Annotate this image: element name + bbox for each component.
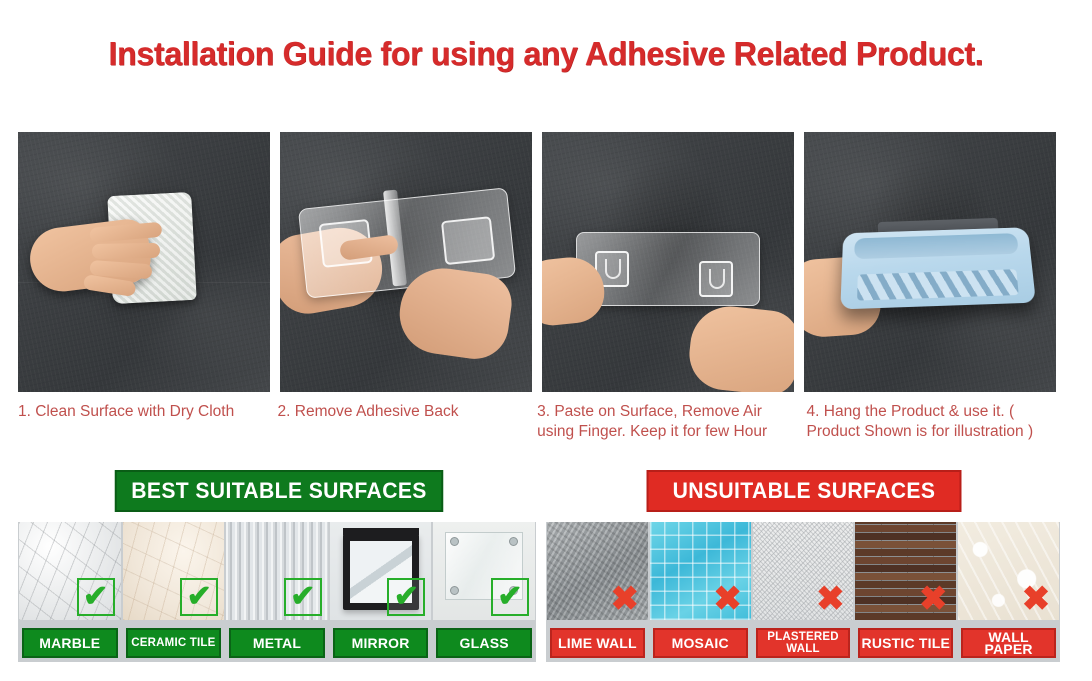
surface-label-lime-wall: LIME WALL [550,628,645,658]
surface-label-glass: GLASS [436,628,532,658]
shelf-interior [854,233,1019,259]
hook-pad [441,216,495,265]
step-photo-2-remove-adhesive-back [280,132,532,392]
surface-cell: ✖PLASTERED WALL [753,522,854,662]
surface-label-ceramic-tile: CERAMIC TILE [126,628,222,658]
step-caption-1: 1. Clean Surface with Dry Cloth [18,402,268,452]
blue-shelf-product [840,227,1036,309]
check-icon: ✔ [180,578,218,616]
page-title: Installation Guide for using any Adhesiv… [109,35,984,73]
surface-label-marble: MARBLE [22,628,118,658]
cross-icon: ✖ [1019,582,1053,616]
surface-swatch-rustic-tile: ✖ [855,522,956,620]
glass-bolt-icon [509,537,518,546]
check-icon: ✔ [387,578,425,616]
suitable-surfaces-grid: ✔MARBLE✔CERAMIC TILE✔METAL✔MIRROR✔GLASS [18,522,536,662]
check-icon: ✔ [284,578,322,616]
surface-label-plastered-wall: PLASTERED WALL [756,628,851,658]
surface-label-mosaic: MOSAIC [653,628,748,658]
surface-swatch-plastered-wall: ✖ [753,522,854,620]
wall-hook-icon [699,261,733,297]
surface-cell: ✖WALL PAPER [958,522,1059,662]
surface-cell: ✔MIRROR [330,522,432,662]
check-icon: ✔ [77,578,115,616]
step-caption-3: 3. Paste on Surface, Remove Air using Fi… [537,402,796,452]
surface-banners: BEST SUITABLE SURFACES UNSUITABLE SURFAC… [0,470,1092,512]
surface-swatch-metal: ✔ [226,522,328,620]
banner-best-suitable-surfaces: BEST SUITABLE SURFACES [115,470,443,512]
surface-label-wall-paper: WALL PAPER [961,628,1056,658]
step-photo-4-hang-product [804,132,1056,392]
step-photo-1-clean-surface [18,132,270,392]
surface-swatch-ceramic-tile: ✔ [123,522,225,620]
cross-icon: ✖ [608,582,642,616]
title-bar: Installation Guide for using any Adhesiv… [0,0,1092,108]
check-icon: ✔ [491,578,529,616]
cross-icon: ✖ [711,582,745,616]
surface-cell: ✔GLASS [433,522,535,662]
shelf-drain-slots [857,269,1019,300]
hand-finger [92,243,160,259]
surface-swatch-marble: ✔ [19,522,121,620]
surface-label-metal: METAL [229,628,325,658]
cross-icon: ✖ [813,582,847,616]
glass-bolt-icon [450,537,459,546]
surface-swatch-mosaic: ✖ [650,522,751,620]
step-captions-row: 1. Clean Surface with Dry Cloth 2. Remov… [18,402,1066,452]
unsuitable-surfaces-grid: ✖LIME WALL✖MOSAIC✖PLASTERED WALL✖RUSTIC … [546,522,1060,662]
surface-cell: ✖RUSTIC TILE [855,522,956,662]
surface-cell: ✔MARBLE [19,522,121,662]
surface-cell: ✖MOSAIC [650,522,751,662]
surface-swatch-mirror: ✔ [330,522,432,620]
surface-cell: ✖LIME WALL [547,522,648,662]
surface-label-mirror: MIRROR [333,628,429,658]
banner-unsuitable-surfaces: UNSUITABLE SURFACES [647,470,962,512]
steps-photo-row [18,132,1058,392]
step-caption-4: 4. Hang the Product & use it. ( Product … [807,402,1066,452]
surface-swatch-wall-paper: ✖ [958,522,1059,620]
surface-swatch-glass: ✔ [433,522,535,620]
step-photo-3-paste-on-surface [542,132,794,392]
surface-swatch-lime-wall: ✖ [547,522,648,620]
surface-cell: ✔CERAMIC TILE [123,522,225,662]
surface-label-rustic-tile: RUSTIC TILE [858,628,953,658]
cross-icon: ✖ [916,582,950,616]
glass-bolt-icon [450,586,459,595]
step-caption-2: 2. Remove Adhesive Back [278,402,528,452]
surface-cell: ✔METAL [226,522,328,662]
